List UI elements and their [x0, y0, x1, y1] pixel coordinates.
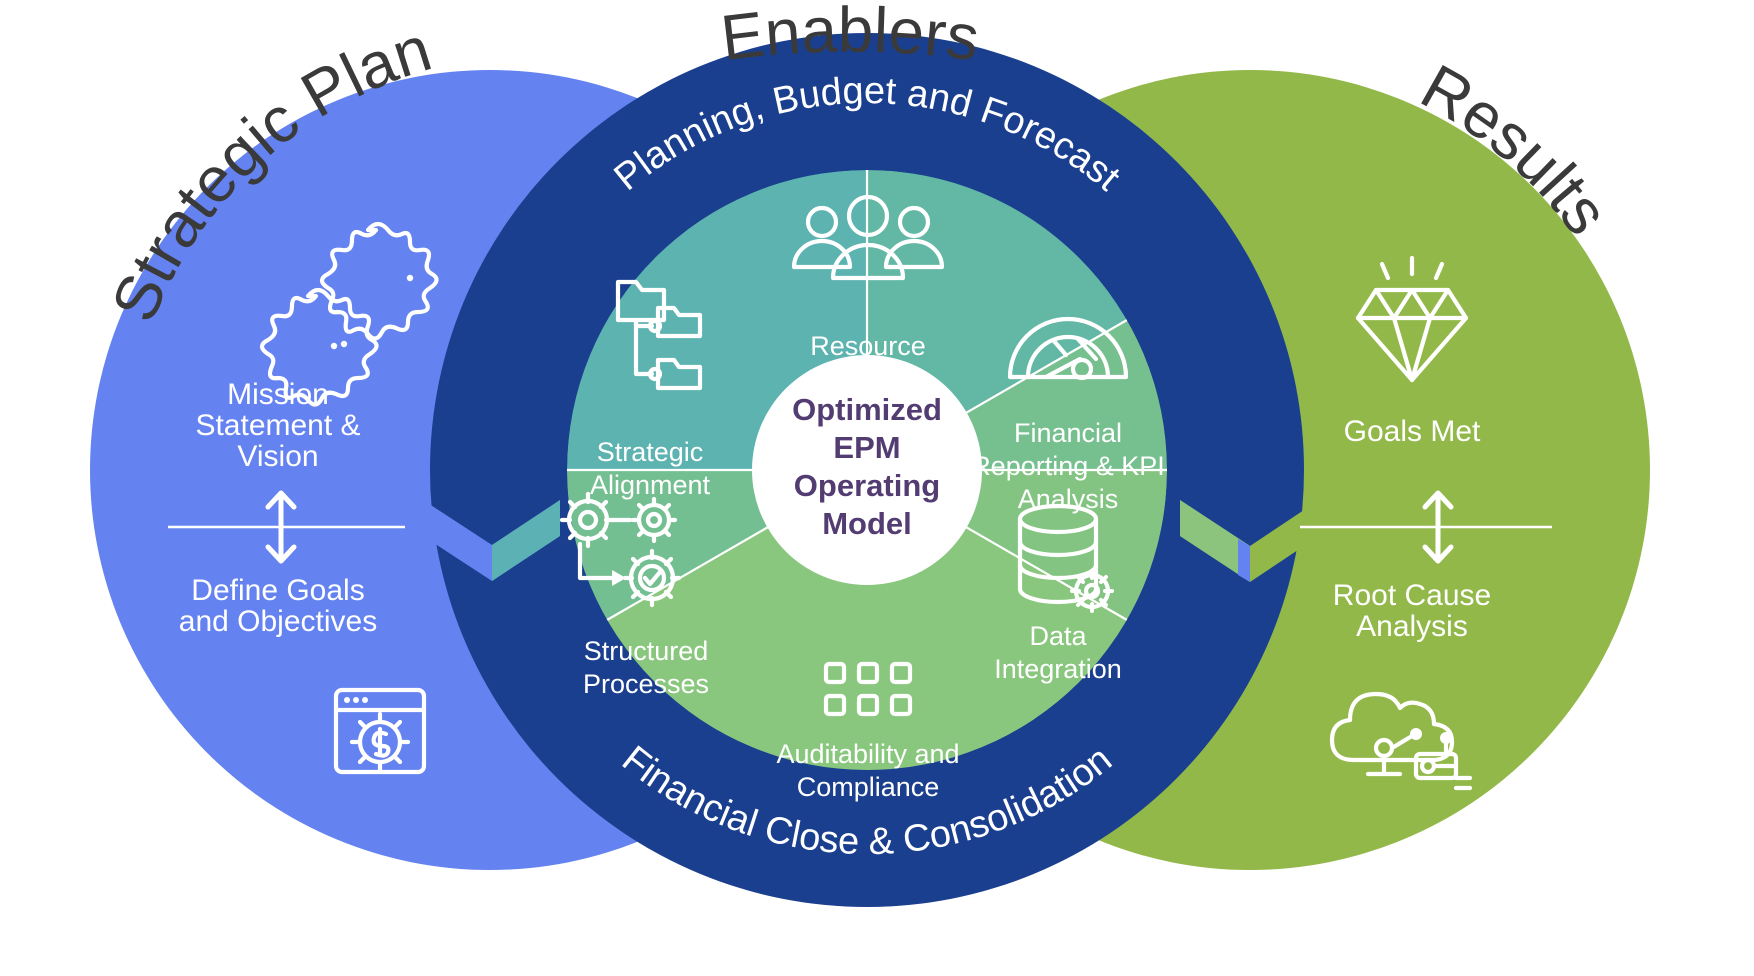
right-bottom-line-2: Analysis: [1356, 610, 1468, 643]
left-bottom-line-1: Define Goals: [191, 574, 364, 607]
core-line-2: EPM: [833, 430, 900, 465]
wedge-0-line-2: Alignment: [590, 470, 711, 500]
wedge-2-line-2: Reporting & KPI: [971, 451, 1165, 481]
right-top-line-1: Goals Met: [1344, 415, 1481, 448]
wedge-0-line-1: Strategic: [597, 437, 704, 467]
core-line-1: Optimized: [792, 392, 942, 427]
core-line-4: Model: [822, 506, 912, 541]
core-line-3: Operating: [794, 468, 940, 503]
wedge-3-line-2: Integration: [994, 654, 1122, 684]
wedge-4-line-1: Auditability and: [776, 739, 959, 769]
wedge-5-line-2: Processes: [583, 669, 709, 699]
epm-operating-model-diagram: Planning, Budget and Forecast Financial …: [0, 0, 1754, 976]
wedge-5-line-1: Structured: [584, 636, 709, 666]
wedge-4-line-2: Compliance: [797, 772, 940, 802]
left-top-line-2: Statement &: [195, 409, 360, 442]
left-top-line-1: Mission: [227, 378, 329, 411]
left-bottom-line-2: and Objectives: [179, 605, 377, 638]
left-top-line-3: Vision: [237, 440, 318, 473]
wedge-1-line-1: Resource: [810, 331, 926, 361]
diagram-canvas: Planning, Budget and Forecast Financial …: [0, 0, 1754, 976]
wedge-1-line-2: Allocations: [803, 364, 934, 394]
wedge-3-line-1: Data: [1029, 621, 1087, 651]
title-enablers: Enablers: [717, 0, 983, 74]
right-bottom-line-1: Root Cause: [1333, 579, 1491, 612]
wedge-2-line-1: Financial: [1014, 418, 1122, 448]
